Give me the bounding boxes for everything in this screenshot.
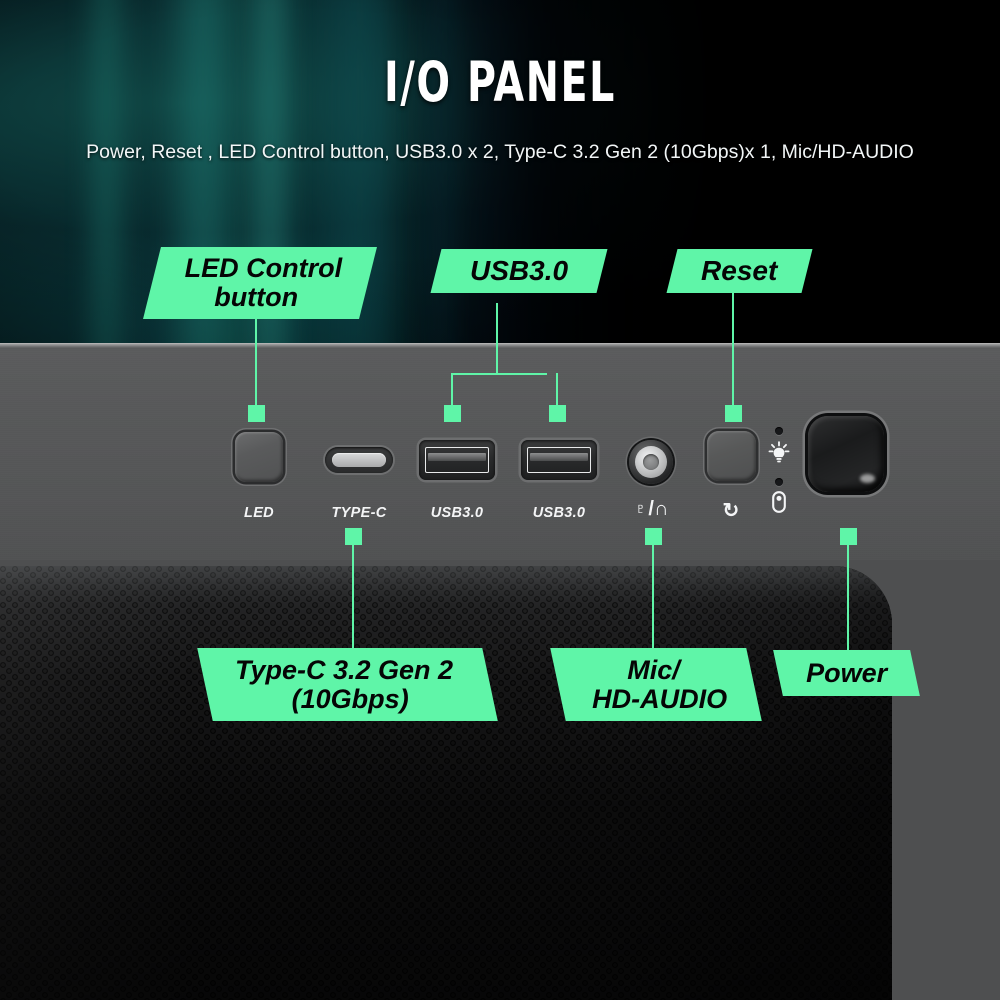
callout-type-c: Type-C 3.2 Gen 2 (10Gbps): [197, 648, 498, 721]
mesh-shading: [0, 566, 892, 1000]
callout-line: button: [178, 283, 335, 312]
callout-led-control: LED Control button: [143, 247, 377, 319]
page-title: I/O PANEL: [100, 50, 900, 114]
reset-button[interactable]: [707, 431, 756, 481]
hdd-led-dot: [775, 478, 783, 486]
callout-line: Mic/: [585, 656, 720, 685]
connector-led: [255, 318, 257, 408]
connector-usb-drop-2: [556, 373, 558, 407]
usb30-port-2[interactable]: [521, 440, 597, 480]
io-panel-infographic: I/O PANEL Power, Reset , LED Control but…: [0, 0, 1000, 1000]
callout-line: LED Control: [185, 254, 342, 283]
callout-reset: Reset: [667, 249, 813, 293]
port-label-audio: ♇/∩: [606, 498, 696, 521]
mesh-front-panel: [0, 566, 892, 1000]
callout-power: Power: [773, 650, 920, 696]
port-label-type-c: TYPE-C: [314, 505, 404, 521]
callout-line: (10Gbps): [241, 685, 459, 714]
callout-line: Power: [806, 659, 887, 688]
callout-marker-usb1: [444, 405, 461, 422]
power-led-dot: [775, 427, 783, 435]
port-label-usb30-1: USB3.0: [412, 505, 502, 521]
callout-line: USB3.0: [470, 256, 568, 286]
callout-line: HD-AUDIO: [592, 685, 727, 714]
connector-reset: [732, 290, 734, 408]
connector-usb-stem: [496, 303, 498, 375]
connector-usb-bar: [451, 373, 547, 375]
callout-line: Type-C 3.2 Gen 2: [235, 656, 453, 685]
power-button[interactable]: [808, 416, 884, 492]
audio-jack[interactable]: [629, 440, 673, 484]
connector-audio: [652, 536, 654, 650]
connector-power: [847, 536, 849, 652]
callout-mic-hd-audio: Mic/ HD-AUDIO: [550, 648, 762, 721]
port-label-usb30-2: USB3.0: [514, 505, 604, 521]
port-label-led: LED: [214, 505, 304, 521]
connector-typec: [352, 536, 354, 650]
callout-marker-usb2: [549, 405, 566, 422]
page-subtitle: Power, Reset , LED Control button, USB3.…: [0, 141, 1000, 164]
light-bulb-icon: [766, 440, 792, 466]
mesh-highlight-band: [0, 566, 892, 592]
callout-usb30: USB3.0: [431, 249, 608, 293]
connector-usb-drop-1: [451, 373, 453, 407]
callout-line: Reset: [701, 256, 777, 286]
usb30-port-1[interactable]: [419, 440, 495, 480]
type-c-port[interactable]: [325, 447, 393, 473]
port-label-reset: ↻: [686, 498, 776, 523]
led-control-button[interactable]: [235, 432, 283, 482]
